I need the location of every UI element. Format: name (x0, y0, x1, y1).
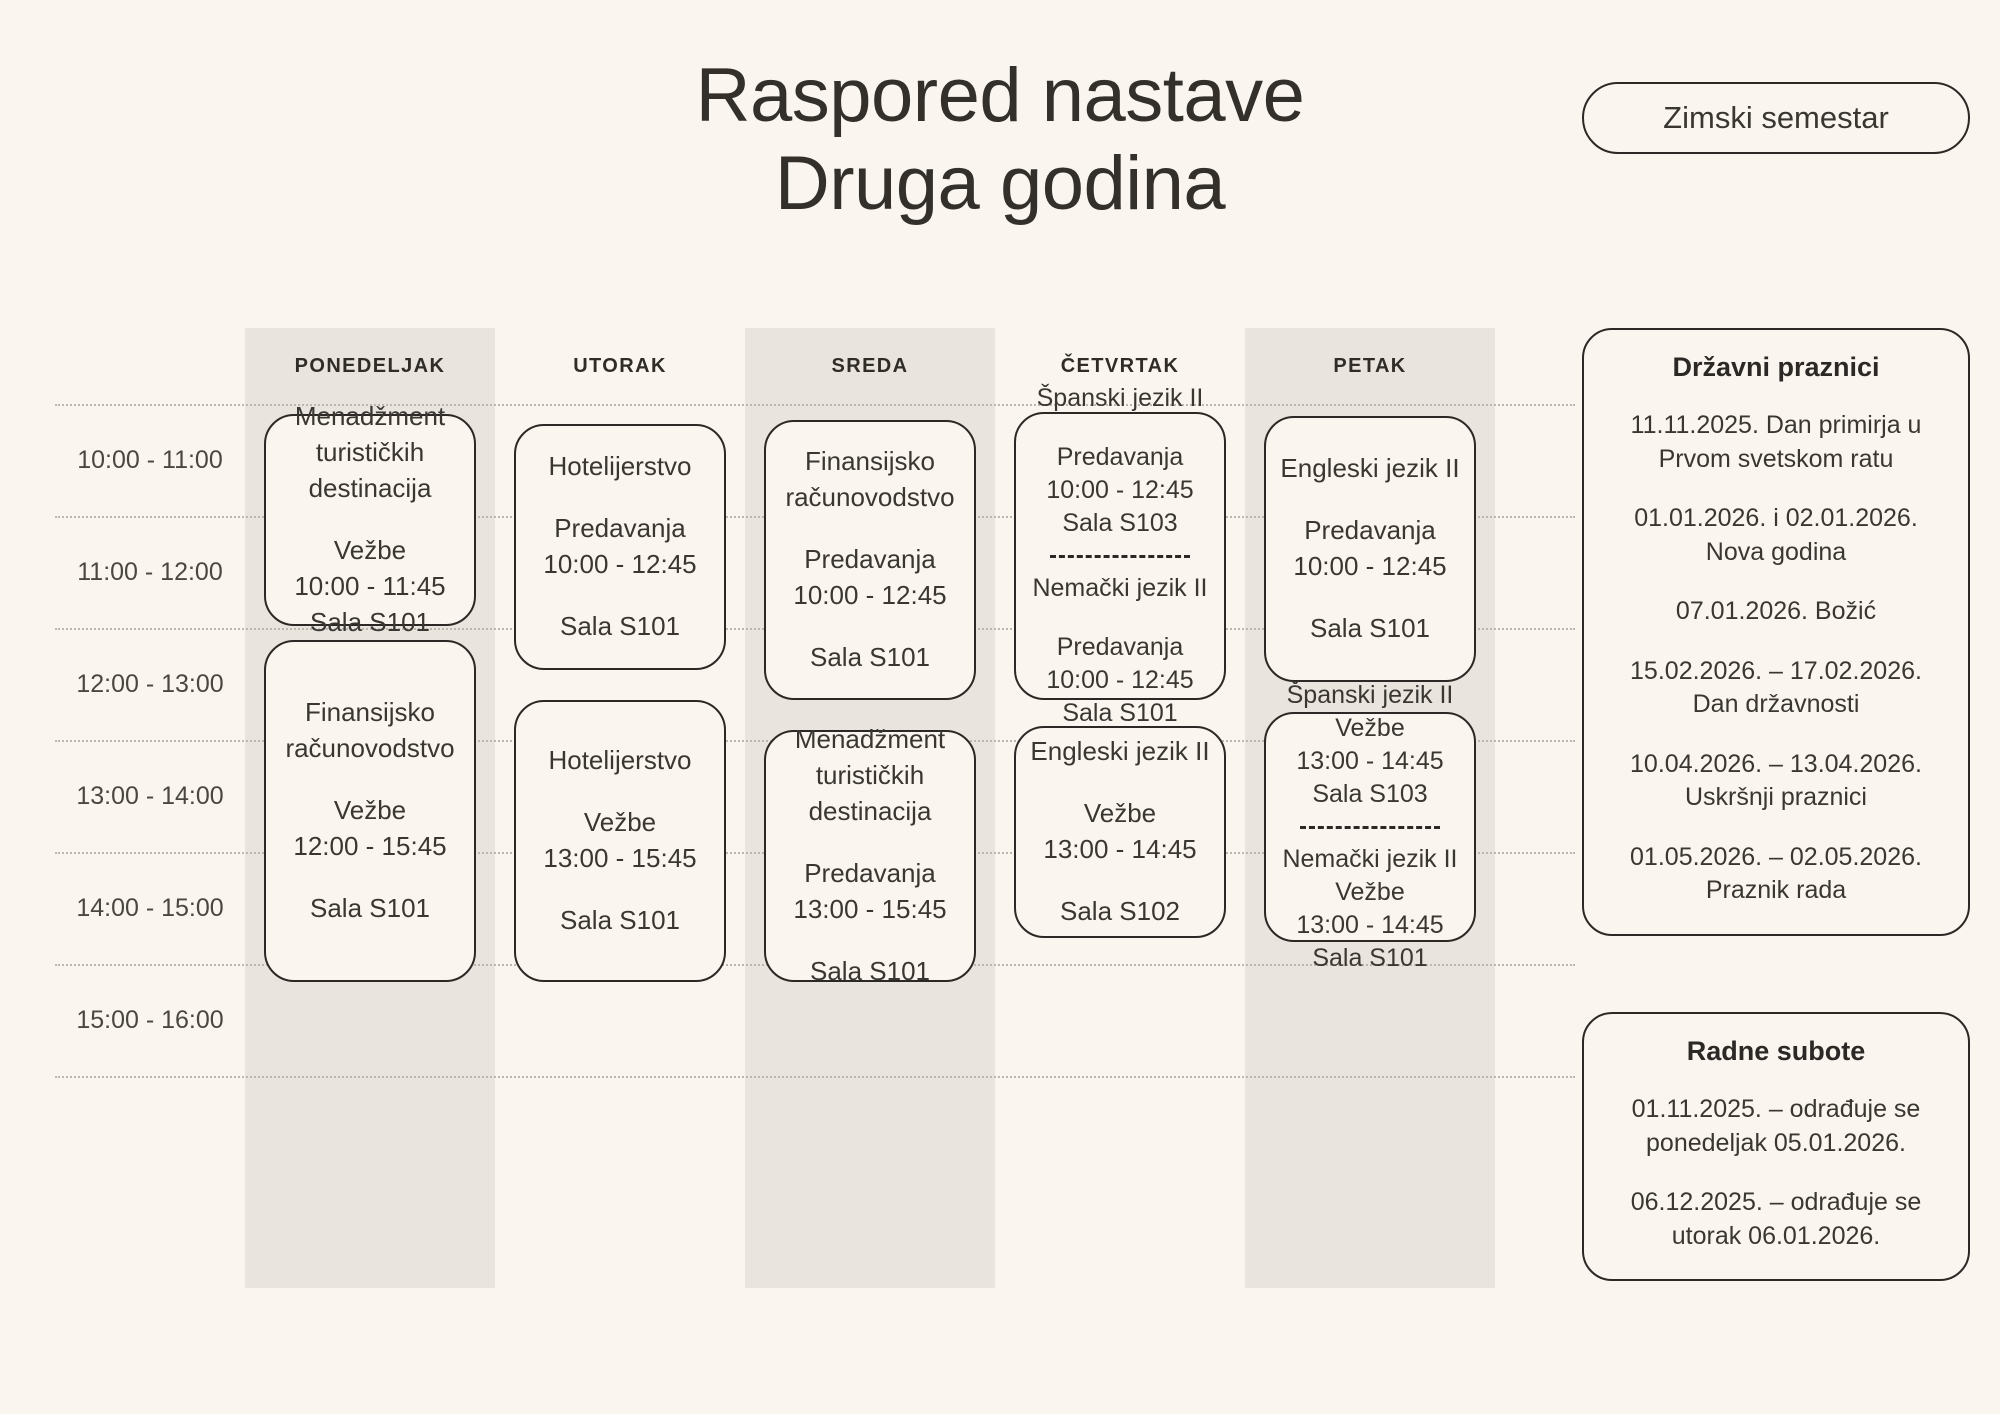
event-spacer (528, 779, 712, 805)
event-spacer (1278, 585, 1462, 611)
event-type: Predavanja (778, 856, 962, 892)
event-subject: Hotelijerstvo (528, 743, 712, 779)
event-segment: FinansijskoračunovodstvoVežbe12:00 - 15:… (278, 695, 462, 926)
event-type: Predavanja (778, 542, 962, 578)
event-spacer (778, 516, 962, 542)
time-slot-label: 11:00 - 12:00 (55, 516, 245, 628)
event-card-wednesday-afternoon[interactable]: MenadžmentturističkihdestinacijaPredavan… (764, 730, 976, 982)
event-type: Vežbe (1278, 876, 1462, 909)
time-slot-label: 10:00 - 11:00 (55, 404, 245, 516)
event-type: Vežbe (1028, 796, 1212, 832)
event-subject: Hotelijerstvo (528, 449, 712, 485)
event-time: 13:00 - 14:45 (1278, 909, 1462, 942)
event-card-monday-morning[interactable]: MenadžmentturističkihdestinacijaVežbe10:… (264, 414, 476, 626)
event-subject: Menadžmentturističkihdestinacija (278, 399, 462, 507)
event-room: Sala S101 (1278, 611, 1462, 647)
day-header-sreda: SREDA (745, 328, 995, 404)
event-room: Sala S101 (778, 640, 962, 676)
event-time: 12:00 - 15:45 (278, 829, 462, 865)
event-card-tuesday-morning[interactable]: HotelijerstvoPredavanja10:00 - 12:45Sala… (514, 424, 726, 670)
event-segment: HotelijerstvoPredavanja10:00 - 12:45Sala… (528, 449, 712, 645)
event-spacer (1028, 415, 1212, 441)
event-type: Vežbe (1278, 712, 1462, 745)
holiday-item: 15.02.2026. – 17.02.2026. Dan državnosti (1610, 655, 1942, 722)
holiday-item: 07.01.2026. Božić (1610, 595, 1942, 629)
event-type: Predavanja (1028, 631, 1212, 664)
event-subject: Španski jezik II (1028, 382, 1212, 415)
working-saturday-item: 06.12.2025. – odrađuje se utorak 06.01.2… (1610, 1186, 1942, 1253)
event-segment: HotelijerstvoVežbe13:00 - 15:45Sala S101 (528, 743, 712, 939)
event-subject: Nemački jezik II (1028, 572, 1212, 605)
event-type: Vežbe (528, 805, 712, 841)
holiday-item: 01.01.2026. i 02.01.2026. Nova godina (1610, 502, 1942, 569)
event-spacer (778, 830, 962, 856)
event-time: 10:00 - 12:45 (528, 547, 712, 583)
event-spacer (528, 877, 712, 903)
event-card-friday-afternoon[interactable]: Španski jezik IIVežbe13:00 - 14:45Sala S… (1264, 712, 1476, 942)
event-segment: MenadžmentturističkihdestinacijaVežbe10:… (278, 399, 462, 640)
event-room: Sala S103 (1028, 507, 1212, 540)
time-slot-label: 13:00 - 14:00 (55, 740, 245, 852)
event-subject: Finansijskoračunovodstvo (778, 444, 962, 516)
event-spacer (528, 485, 712, 511)
event-segment: Španski jezik IIVežbe13:00 - 14:45Sala S… (1278, 679, 1462, 812)
event-subject: Španski jezik II (1278, 679, 1462, 712)
working-saturday-item: 01.11.2025. – odrađuje se ponedeljak 05.… (1610, 1093, 1942, 1160)
event-group-divider (1050, 555, 1190, 558)
event-segment: Španski jezik IIPredavanja10:00 - 12:45S… (1028, 382, 1212, 541)
event-type: Predavanja (1028, 441, 1212, 474)
event-time: 10:00 - 12:45 (778, 578, 962, 614)
event-subject: Engleski jezik II (1028, 734, 1212, 770)
event-spacer (278, 507, 462, 533)
holiday-item: 01.05.2026. – 02.05.2026. Praznik rada (1610, 841, 1942, 908)
time-slot-label: 12:00 - 13:00 (55, 628, 245, 740)
event-room: Sala S102 (1028, 894, 1212, 930)
holidays-list: 11.11.2025. Dan primirja u Prvom svetsko… (1610, 409, 1942, 908)
semester-badge[interactable]: Zimski semestar (1582, 82, 1970, 154)
event-spacer (1028, 605, 1212, 631)
event-card-wednesday-morning[interactable]: FinansijskoračunovodstvoPredavanja10:00 … (764, 420, 976, 700)
working-saturdays-panel-title: Radne subote (1610, 1036, 1942, 1067)
event-room: Sala S101 (778, 954, 962, 990)
working-saturdays-panel: Radne subote 01.11.2025. – odrađuje se p… (1582, 1012, 1970, 1281)
event-card-thursday-afternoon[interactable]: Engleski jezik IIVežbe13:00 - 14:45Sala … (1014, 726, 1226, 938)
event-spacer (778, 928, 962, 954)
day-header-petak: PETAK (1245, 328, 1495, 404)
event-time: 10:00 - 12:45 (1028, 474, 1212, 507)
event-group-divider (1300, 826, 1440, 829)
event-spacer (778, 614, 962, 640)
holiday-item: 11.11.2025. Dan primirja u Prvom svetsko… (1610, 409, 1942, 476)
event-subject: Engleski jezik II (1278, 451, 1462, 487)
holidays-panel: Državni praznici 11.11.2025. Dan primirj… (1582, 328, 1970, 936)
event-type: Predavanja (1278, 513, 1462, 549)
event-segment: Engleski jezik IIPredavanja10:00 - 12:45… (1278, 451, 1462, 647)
event-time: 13:00 - 14:45 (1278, 745, 1462, 778)
event-spacer (278, 865, 462, 891)
event-room: Sala S101 (1278, 942, 1462, 975)
day-header-utorak: UTORAK (495, 328, 745, 404)
event-segment: FinansijskoračunovodstvoPredavanja10:00 … (778, 444, 962, 675)
holidays-panel-title: Državni praznici (1610, 352, 1942, 383)
event-card-thursday-morning[interactable]: Španski jezik IIPredavanja10:00 - 12:45S… (1014, 412, 1226, 700)
event-card-tuesday-afternoon[interactable]: HotelijerstvoVežbe13:00 - 15:45Sala S101 (514, 700, 726, 982)
event-card-monday-afternoon[interactable]: FinansijskoračunovodstvoVežbe12:00 - 15:… (264, 640, 476, 982)
event-spacer (1028, 868, 1212, 894)
page-title-line1: Raspored nastave (696, 53, 1305, 138)
event-room: Sala S101 (528, 609, 712, 645)
time-slot-label: 15:00 - 16:00 (55, 964, 245, 1076)
event-type: Vežbe (278, 533, 462, 569)
event-subject: Finansijskoračunovodstvo (278, 695, 462, 767)
time-slot-label: 14:00 - 15:00 (55, 852, 245, 964)
event-time: 13:00 - 14:45 (1028, 832, 1212, 868)
event-spacer (528, 583, 712, 609)
page-header: Raspored nastave Druga godina Zimski sem… (0, 0, 2000, 300)
event-segment: MenadžmentturističkihdestinacijaPredavan… (778, 722, 962, 989)
day-header-ponedeljak: PONEDELJAK (245, 328, 495, 404)
event-segment: Nemački jezik IIVežbe13:00 - 14:45Sala S… (1278, 843, 1462, 976)
event-time: 10:00 - 12:45 (1278, 549, 1462, 585)
working-saturdays-list: 01.11.2025. – odrađuje se ponedeljak 05.… (1610, 1093, 1942, 1253)
event-time: 10:00 - 11:45 (278, 569, 462, 605)
event-segment: Nemački jezik IIPredavanja10:00 - 12:45S… (1028, 572, 1212, 731)
event-room: Sala S101 (528, 903, 712, 939)
event-room: Sala S101 (278, 891, 462, 927)
event-spacer (278, 767, 462, 793)
event-room: Sala S101 (278, 605, 462, 641)
event-segment: Engleski jezik IIVežbe13:00 - 14:45Sala … (1028, 734, 1212, 930)
schedule-grid: PONEDELJAKUTORAKSREDAČETVRTAKPETAK 10:00… (55, 328, 1575, 1288)
event-time: 10:00 - 12:45 (1028, 664, 1212, 697)
event-time: 13:00 - 15:45 (778, 892, 962, 928)
semester-badge-label: Zimski semestar (1663, 100, 1889, 136)
event-subject: Menadžmentturističkihdestinacija (778, 722, 962, 830)
event-type: Vežbe (278, 793, 462, 829)
row-separator-line (55, 1076, 1575, 1078)
event-subject: Nemački jezik II (1278, 843, 1462, 876)
event-type: Predavanja (528, 511, 712, 547)
event-spacer (1278, 487, 1462, 513)
event-spacer (1028, 770, 1212, 796)
event-card-friday-morning[interactable]: Engleski jezik IIPredavanja10:00 - 12:45… (1264, 416, 1476, 682)
event-room: Sala S103 (1278, 778, 1462, 811)
event-time: 13:00 - 15:45 (528, 841, 712, 877)
holiday-item: 10.04.2026. – 13.04.2026. Uskršnji prazn… (1610, 748, 1942, 815)
